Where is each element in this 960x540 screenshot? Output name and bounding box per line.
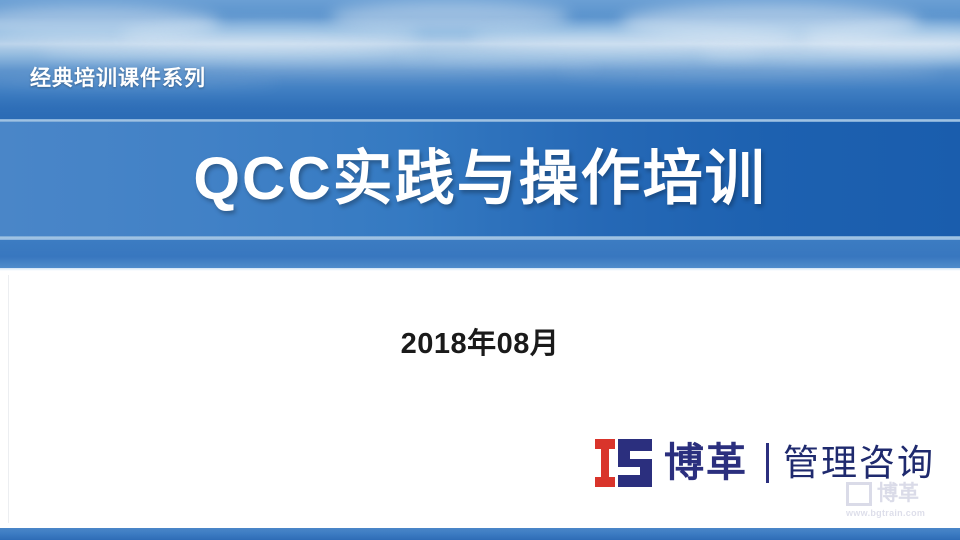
- left-margin-rule: [8, 275, 9, 523]
- slide-kicker: 经典培训课件系列: [30, 62, 206, 92]
- title-band-lower-stripe: [0, 240, 960, 268]
- sky-photo-header: [0, 0, 960, 122]
- vertical-divider-icon: [766, 443, 769, 483]
- cloud-shape: [180, 62, 600, 74]
- presentation-title-slide: 经典培训课件系列 QCC实践与操作培训 2018年08月 博革 管理咨询 博革 …: [0, 0, 960, 540]
- monogram-i-icon: [594, 438, 616, 488]
- footer-bar: [0, 528, 960, 540]
- slide-date: 2018年08月: [0, 320, 960, 362]
- cloud-shape: [560, 66, 940, 78]
- slide-title: QCC实践与操作培训: [0, 126, 960, 232]
- bg-monogram-icon: [592, 436, 654, 490]
- cloud-shape: [700, 44, 960, 64]
- logo-tagline: 管理咨询: [783, 445, 935, 481]
- monogram-g-icon: [616, 438, 654, 488]
- cloud-shape: [40, 44, 420, 62]
- company-logo: 博革 管理咨询: [592, 432, 935, 494]
- logo-company-name: 博革: [664, 443, 748, 483]
